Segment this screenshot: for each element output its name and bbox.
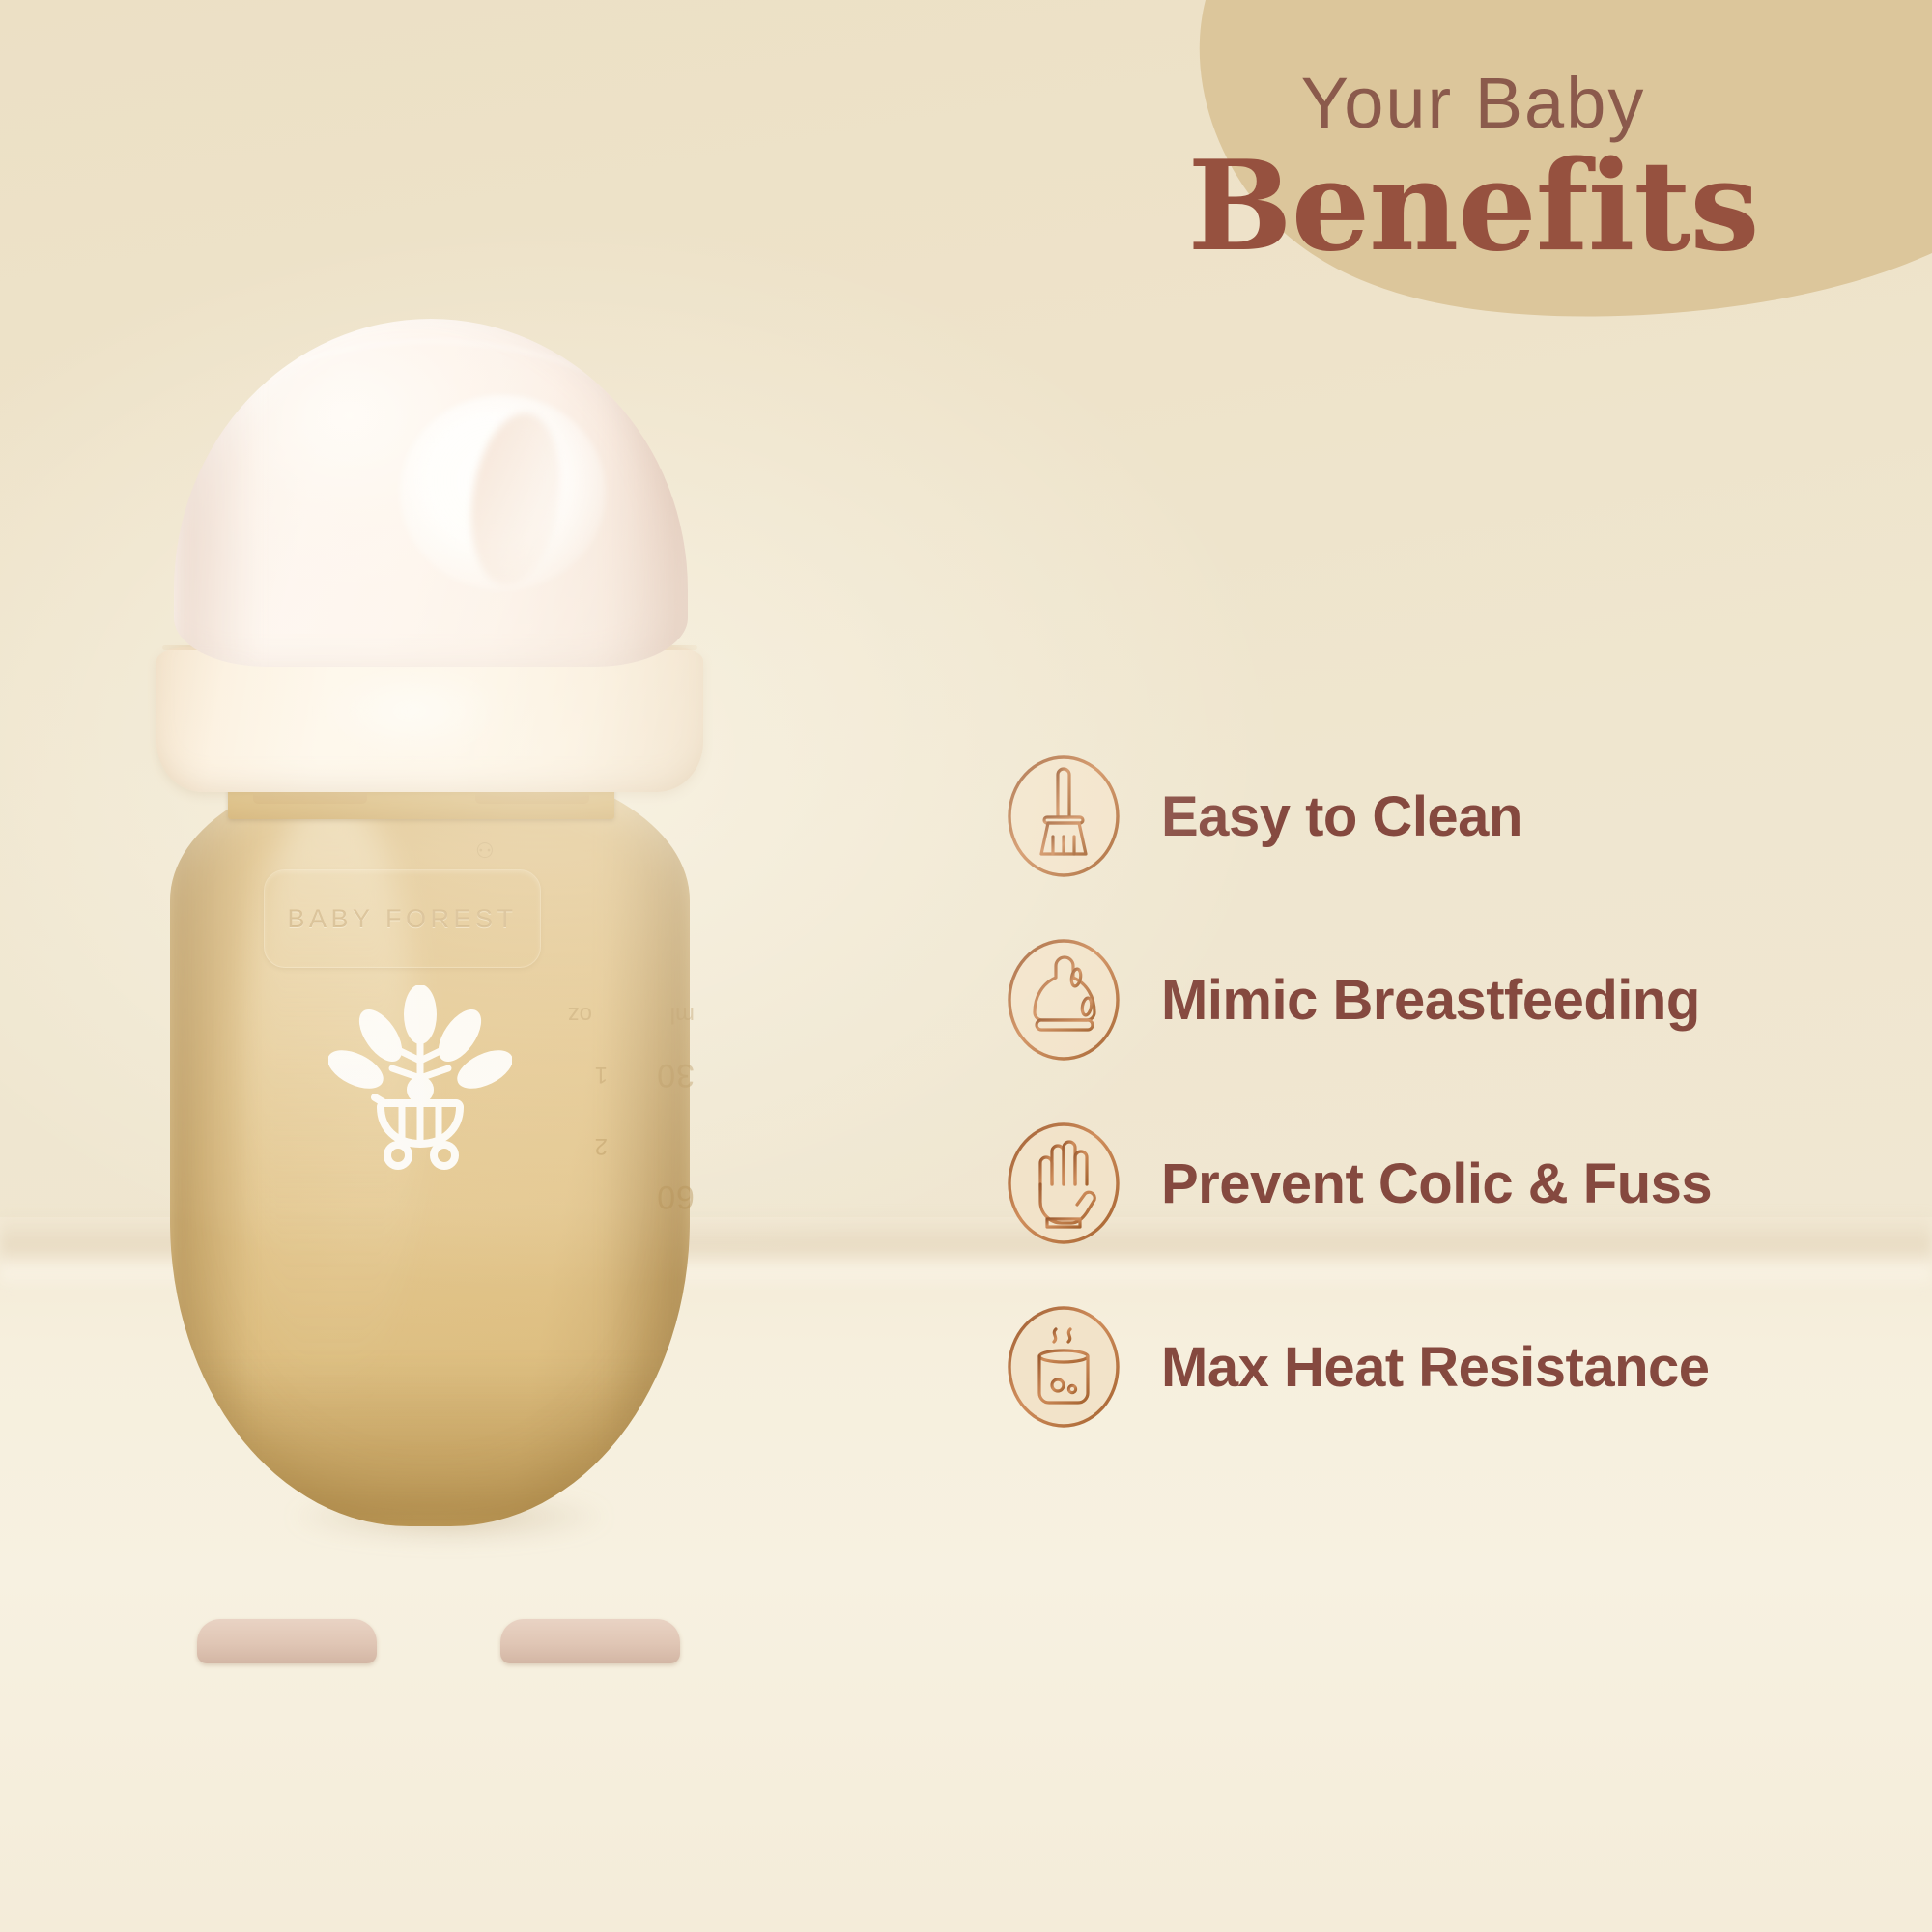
benefit-label-max-heat-resistance: Max Heat Resistance [1161,1335,1710,1400]
heading-line-2: Benefits [1092,145,1855,269]
mold-mark-icon: ⚇ [475,837,495,862]
benefit-item-prevent-colic[interactable]: Prevent Colic & Fuss [1005,1092,1874,1275]
collar-highlight [321,668,506,754]
product-bottle: ⚇ BABY FOREST [135,309,734,1662]
scale-unit-ml: ml [670,1001,695,1028]
leaf-plant-logo [328,985,512,1174]
dome-cap [174,319,688,667]
scale-mark-60: 60 [656,1178,695,1215]
measurement-scale: 60 30 2 1 ml oz [526,976,700,1217]
poster-canvas: Your Baby Benefits ⚇ BABY FOREST [0,0,1932,1932]
broom-icon [1005,753,1122,879]
hot-cup-icon [1005,1304,1122,1430]
benefits-list: Easy to Clean [1005,724,1874,1459]
benefit-label-prevent-colic: Prevent Colic & Fuss [1161,1151,1712,1216]
benefit-item-mimic-breastfeeding[interactable]: Mimic Breastfeeding [1005,908,1874,1092]
benefit-label-mimic-breastfeeding: Mimic Breastfeeding [1161,968,1700,1033]
dome-rim-highlight [210,340,652,552]
collar-ring [156,647,703,792]
scale-submark-2: 2 [594,1132,608,1159]
silicone-foot-right [500,1619,680,1663]
benefit-label-easy-to-clean: Easy to Clean [1161,784,1522,849]
brand-emboss-text: BABY FOREST [287,904,517,934]
body-base-shade [170,1358,690,1526]
heading-line-1: Your Baby [1092,68,1855,139]
brand-emboss-plate: BABY FOREST [264,869,541,968]
nipple-icon [1005,937,1122,1063]
benefit-item-easy-to-clean[interactable]: Easy to Clean [1005,724,1874,908]
benefit-item-max-heat-resistance[interactable]: Max Heat Resistance [1005,1275,1874,1459]
silicone-foot-left [197,1619,377,1663]
open-hand-icon [1005,1121,1122,1246]
scale-unit-oz: oz [568,1001,592,1028]
scale-mark-30: 30 [656,1056,695,1094]
scale-submark-1: 1 [594,1061,608,1088]
heading-block: Your Baby Benefits [1092,68,1855,269]
